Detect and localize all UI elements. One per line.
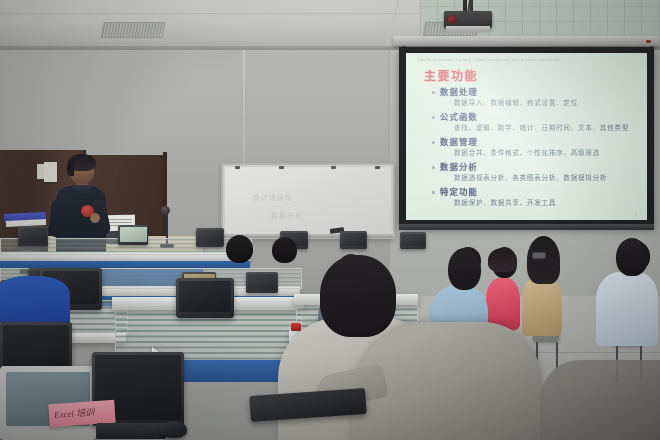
whiteboard-clip — [279, 166, 284, 169]
whiteboard-clip — [331, 166, 336, 169]
slide-title: 主要功能 — [424, 67, 478, 84]
slide-group-detail: 查找、逻辑、数学、统计、日期时间、文本、其他类型 — [430, 123, 639, 135]
slide-group-detail: 数据导入、数据编辑、格式设置、定位 — [430, 98, 639, 110]
screen-bottom-bar — [399, 224, 654, 230]
slide-header-text: EXCEL Application Training │ Data Manage… — [418, 58, 561, 62]
microphone-icon — [161, 206, 170, 215]
person-head — [448, 248, 481, 290]
slide-bullet-list: 数据处理 数据导入、数据编辑、格式设置、定位 公式函数 查找、逻辑、数学、统计、… — [430, 86, 639, 211]
ceiling-vent-icon — [100, 22, 165, 38]
monitor — [118, 225, 148, 245]
keyboard — [96, 423, 166, 439]
instructor-hand — [90, 213, 100, 223]
person-torso — [0, 276, 70, 322]
slide-group-detail: 数据透视表分析、各类图表分析、数据模拟分析 — [430, 173, 639, 185]
whiteboard-clip — [235, 166, 240, 169]
screen-housing-marker — [646, 40, 651, 43]
person-hair — [488, 248, 517, 272]
monitor — [176, 278, 234, 318]
monitor — [18, 226, 48, 246]
eyeglasses-icon — [532, 252, 546, 259]
slide-group-heading: 数据处理 — [430, 86, 639, 98]
person-hair — [527, 236, 560, 284]
slide-group: 特定功能 数据保护、数据共享、开发工具 — [430, 186, 639, 210]
slide-group: 数据处理 数据导入、数据编辑、格式设置、定位 — [430, 86, 639, 110]
computer-mouse — [160, 421, 187, 438]
whiteboard-clip — [375, 166, 380, 169]
whiteboard: 会计信息化 数据分析 — [221, 163, 395, 239]
presentation-slide: EXCEL Application Training │ Data Manage… — [406, 53, 647, 220]
monitor — [340, 231, 367, 249]
instructor-hair — [67, 161, 74, 176]
monitor — [196, 228, 224, 247]
person-head — [320, 255, 396, 337]
screen-roller-housing — [393, 36, 659, 46]
slide-page-number: 1 — [635, 212, 637, 217]
person-torso — [596, 272, 658, 346]
projection-screen: EXCEL Application Training │ Data Manage… — [399, 47, 654, 227]
projector-base — [446, 26, 490, 32]
slide-group-heading: 数据管理 — [430, 136, 639, 148]
foreground-furniture — [540, 360, 660, 440]
desk-label-text: Excel 培训 — [54, 405, 95, 421]
person-head — [616, 238, 648, 276]
monitor — [246, 272, 278, 293]
slide-group-heading: 公式函数 — [430, 111, 639, 123]
classroom-photo: 会计信息化 数据分析 EXCEL Application Training │ … — [0, 0, 660, 440]
whiteboard-surface: 会计信息化 数据分析 — [225, 167, 391, 235]
slide-group: 数据管理 数据合并、条件格式、个性化排序、高级筛选 — [430, 136, 639, 160]
slide-group-detail: 数据保护、数据共享、开发工具 — [430, 198, 639, 210]
whiteboard-ghost-text: 数据分析 — [271, 211, 303, 221]
student-head — [272, 237, 297, 263]
slide-group: 公式函数 查找、逻辑、数学、统计、日期时间、文本、其他类型 — [430, 111, 639, 135]
monitor — [400, 232, 426, 249]
person-torso — [522, 276, 562, 336]
slide-group-detail: 数据合并、条件格式、个性化排序、高级筛选 — [430, 148, 639, 160]
slide-group: 数据分析 数据透视表分析、各类图表分析、数据模拟分析 — [430, 161, 639, 185]
slide-group-heading: 数据分析 — [430, 161, 639, 173]
projector-lens-icon — [447, 15, 457, 24]
slide-group-heading: 特定功能 — [430, 186, 639, 198]
bottle-cap — [291, 323, 301, 331]
wall-notice-paper — [37, 164, 44, 179]
student-head — [226, 235, 253, 263]
whiteboard-ghost-text: 会计信息化 — [253, 193, 293, 203]
